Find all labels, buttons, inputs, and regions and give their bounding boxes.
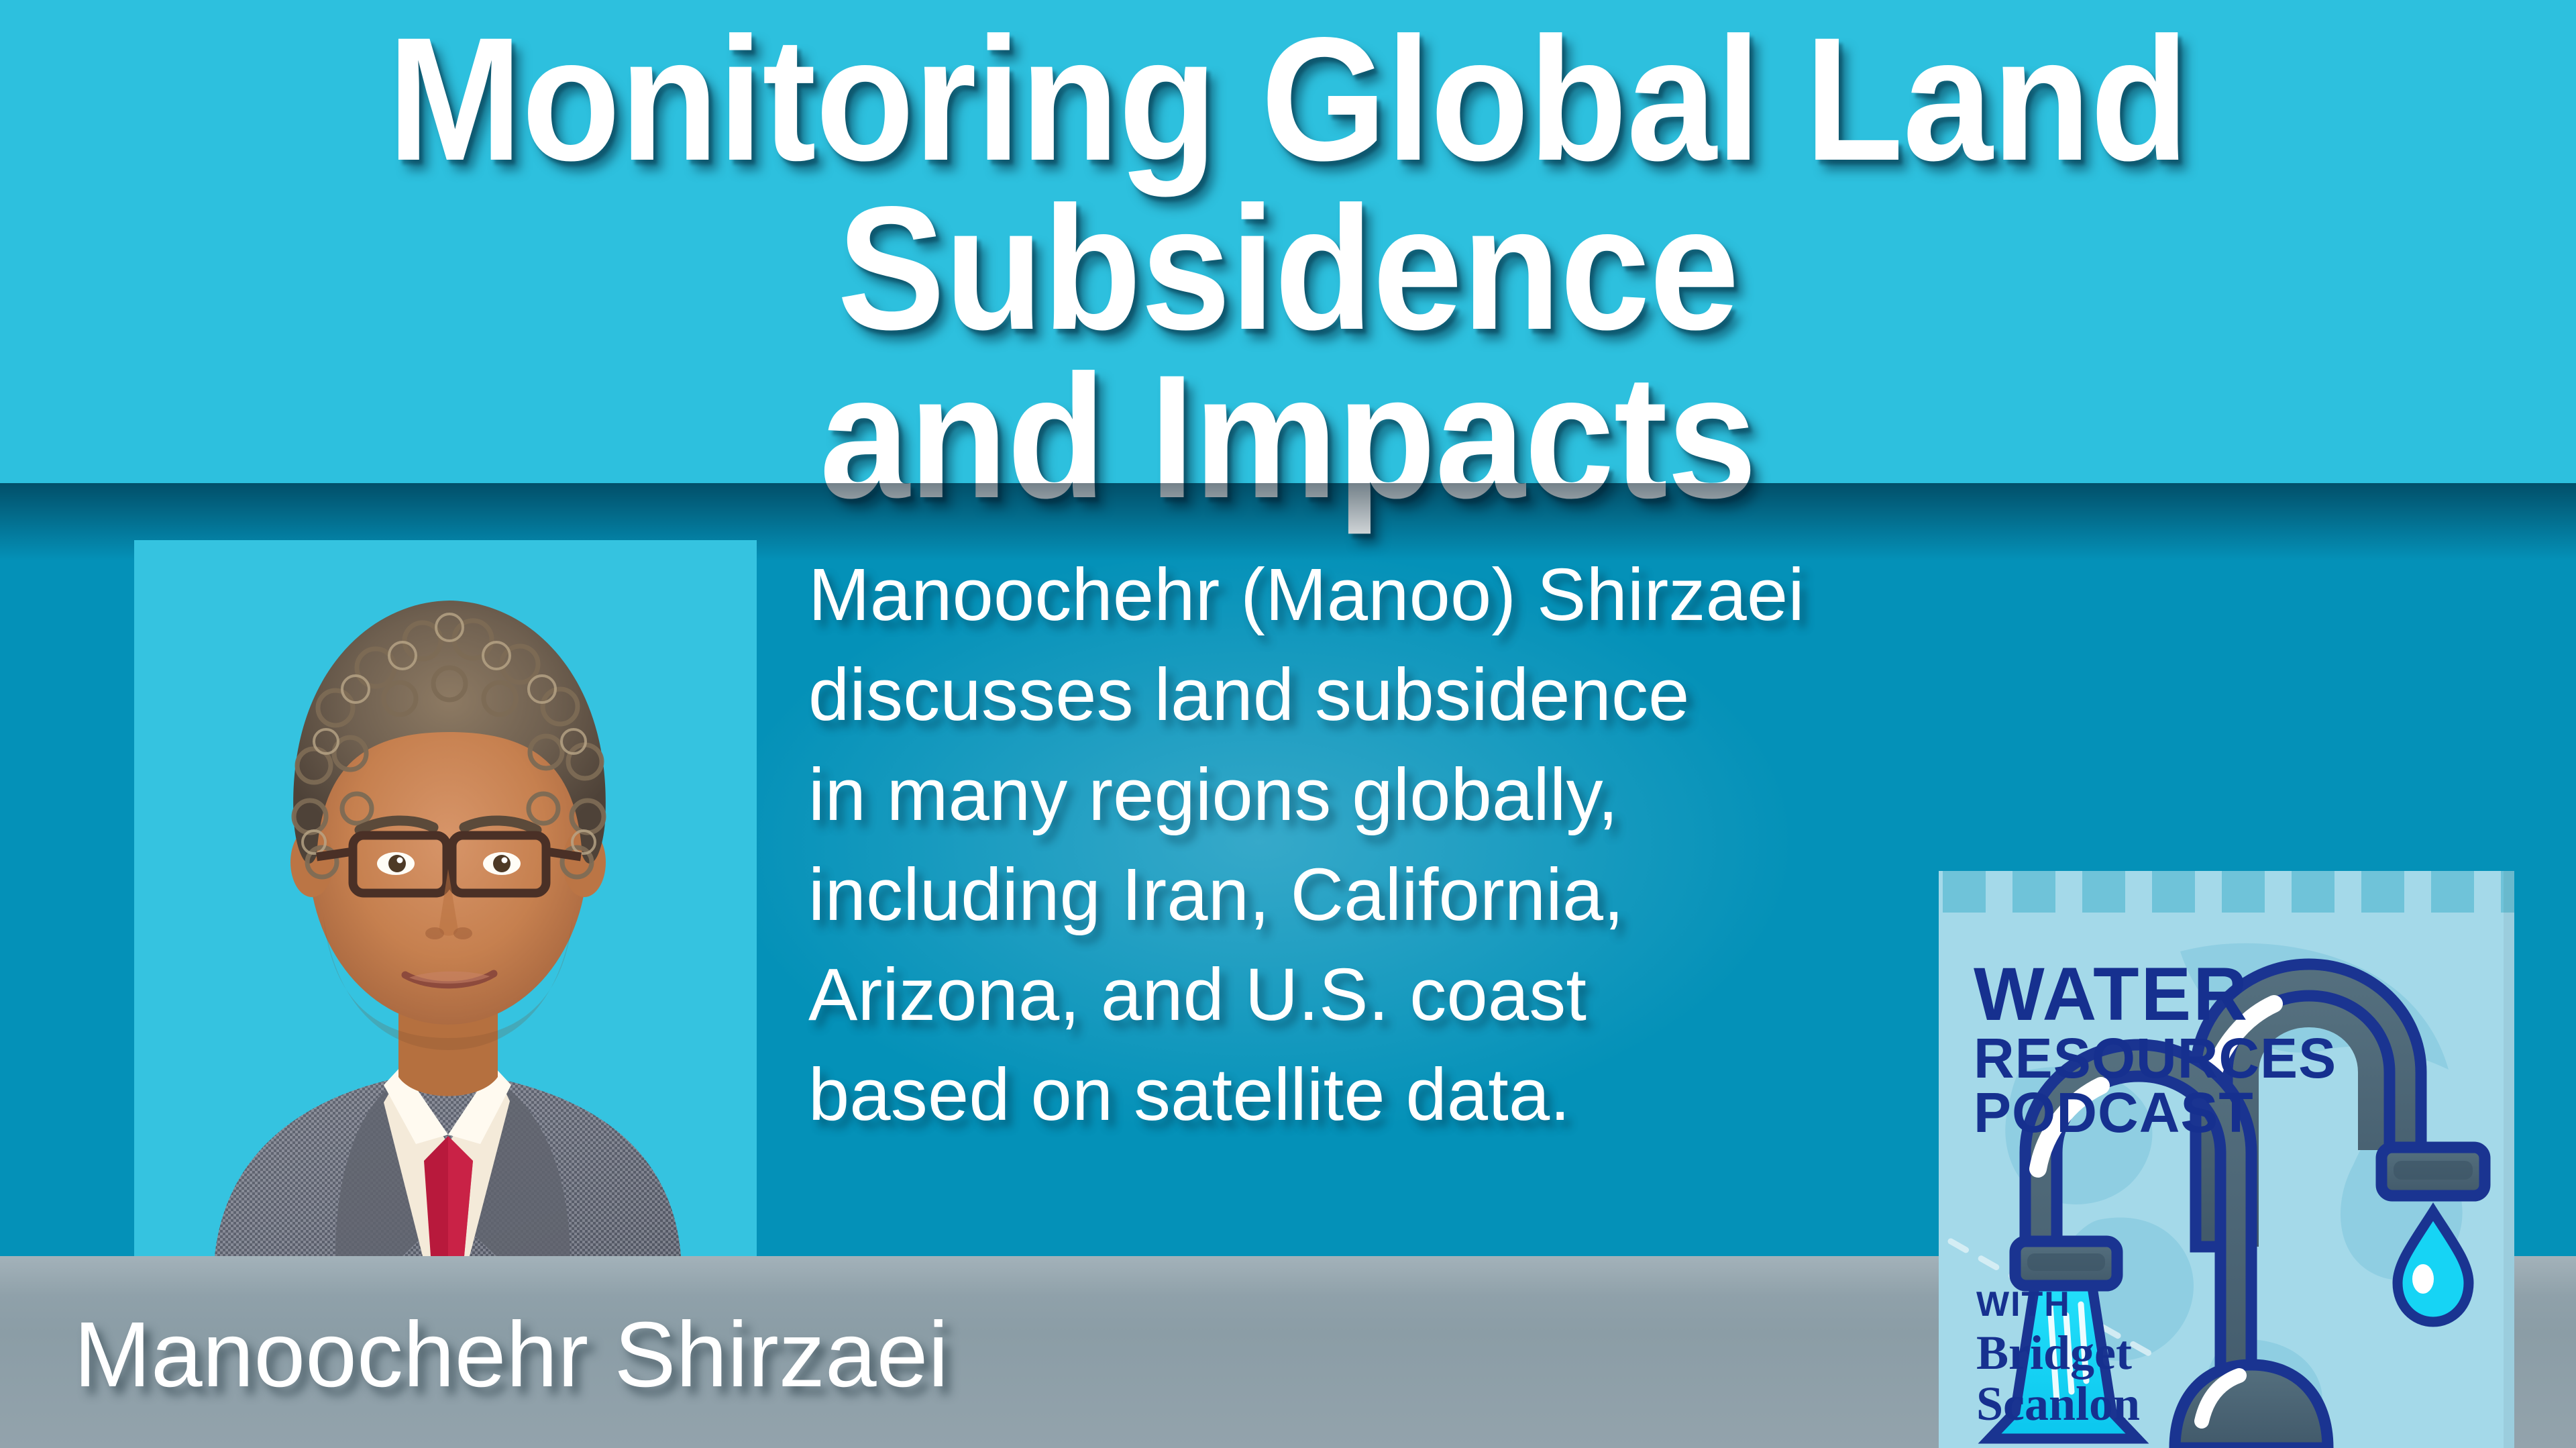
speaker-name: Manoochehr Shirzaei [74,1308,949,1401]
portrait-image [134,540,757,1256]
podcast-episode-card: Monitoring Global Land Subsidence and Im… [0,0,2576,1448]
logo-line-podcast: PODCAST [1974,1087,2337,1139]
episode-description: Manoochehr (Manoo) Shirzaei discusses la… [808,545,2016,1145]
logo-with-label: WITH [1976,1284,2071,1325]
logo-line-water: WATER [1974,960,2337,1029]
logo-line-resources: RESOURCES [1974,1033,2337,1084]
podcast-title-block: WATER RESOURCES PODCAST [1974,960,2337,1139]
podcast-logo[interactable]: WATER RESOURCES PODCAST WITH Bridget Sca… [1939,871,2514,1448]
logo-host-name: Bridget Scanlon [1976,1327,2140,1430]
guest-portrait [134,540,757,1256]
header-band: Monitoring Global Land Subsidence and Im… [0,0,2576,483]
faucet-base [2175,1365,2328,1448]
page-title: Monitoring Global Land Subsidence and Im… [103,0,2473,521]
